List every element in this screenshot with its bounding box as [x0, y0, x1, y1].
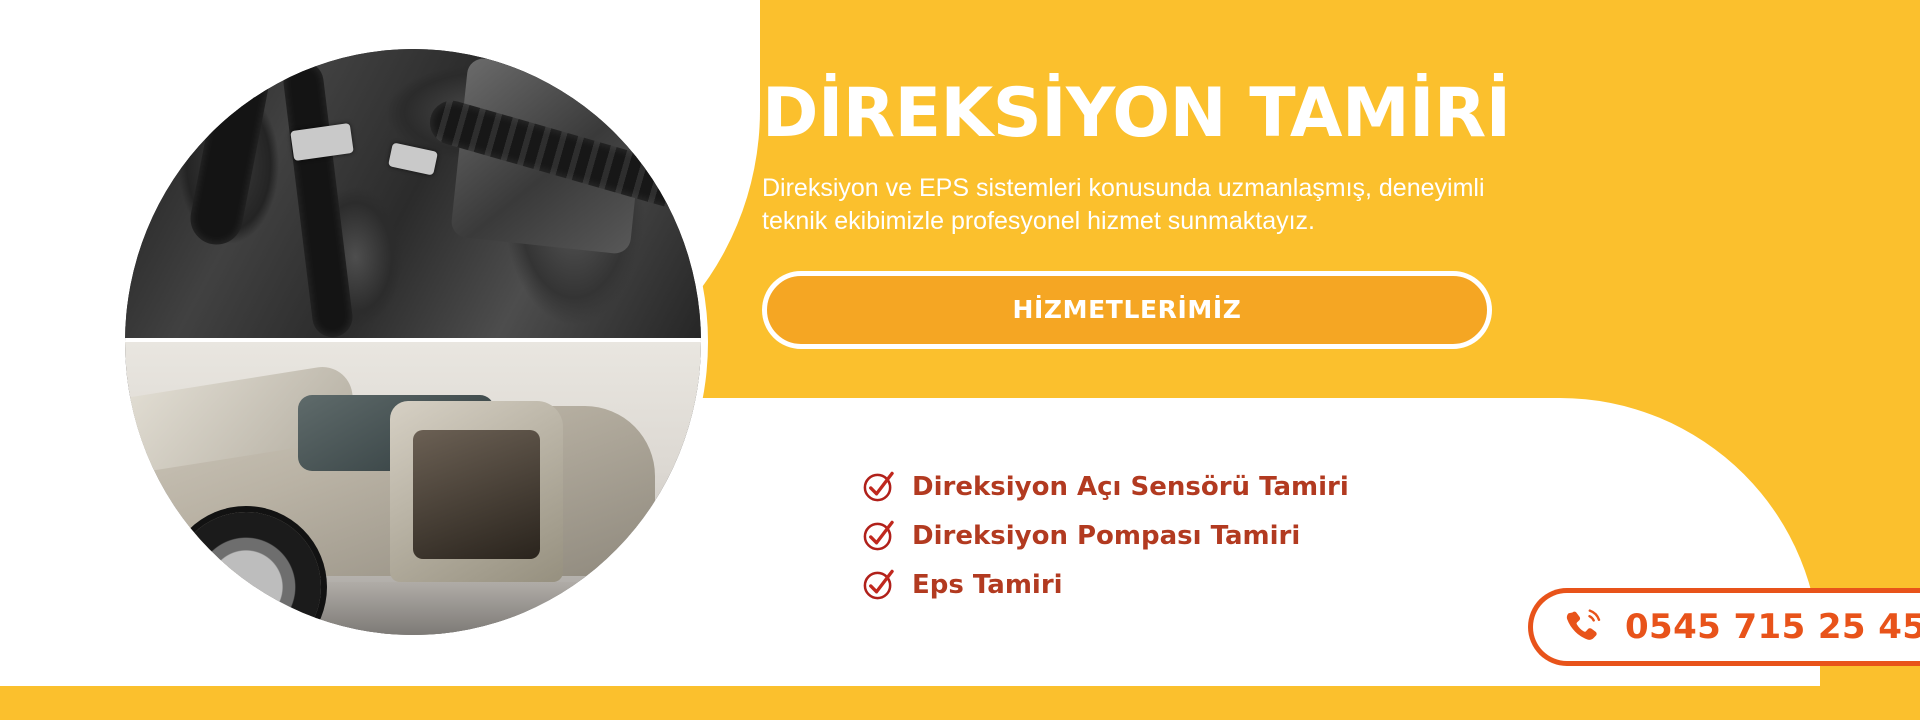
- phone-number: 0545 715 25 45: [1625, 607, 1920, 647]
- hose-clamp: [388, 143, 438, 176]
- engine-bay-photo-art: [125, 49, 701, 338]
- check-circle-icon: [862, 568, 895, 601]
- list-item-label: Eps Tamiri: [912, 570, 1063, 600]
- phone-ringing-icon: [1559, 604, 1605, 650]
- services-list: Direksiyon Açı Sensörü Tamiri Direksiyon…: [862, 462, 1349, 609]
- engine-hose: [186, 49, 278, 249]
- list-item[interactable]: Direksiyon Pompası Tamiri: [862, 511, 1349, 560]
- services-button-label: HİZMETLERİMİZ: [1012, 295, 1241, 324]
- phone-cta[interactable]: 0545 715 25 45: [1528, 588, 1920, 666]
- car-service-photo: [125, 342, 701, 635]
- check-circle-icon: [862, 519, 895, 552]
- engine-hose: [281, 59, 355, 339]
- list-item[interactable]: Direksiyon Açı Sensörü Tamiri: [862, 462, 1349, 511]
- banner-title: DİREKSİYON TAMİRİ: [762, 78, 1822, 150]
- list-item[interactable]: Eps Tamiri: [862, 560, 1349, 609]
- list-item-label: Direksiyon Açı Sensörü Tamiri: [912, 472, 1349, 502]
- engine-bay-photo: [125, 49, 701, 342]
- promo-banner: DİREKSİYON TAMİRİ Direksiyon ve EPS sist…: [0, 0, 1920, 720]
- banner-subtitle: Direksiyon ve EPS sistemleri konusunda u…: [762, 172, 1552, 239]
- services-button[interactable]: HİZMETLERİMİZ: [762, 271, 1492, 349]
- bottom-accent-strip: [0, 686, 1920, 720]
- car-service-photo-art: [125, 342, 701, 635]
- list-item-label: Direksiyon Pompası Tamiri: [912, 521, 1300, 551]
- photo-collage: [118, 42, 708, 642]
- banner-content: DİREKSİYON TAMİRİ Direksiyon ve EPS sist…: [762, 78, 1822, 349]
- check-circle-icon: [862, 470, 895, 503]
- car-interior: [413, 430, 540, 559]
